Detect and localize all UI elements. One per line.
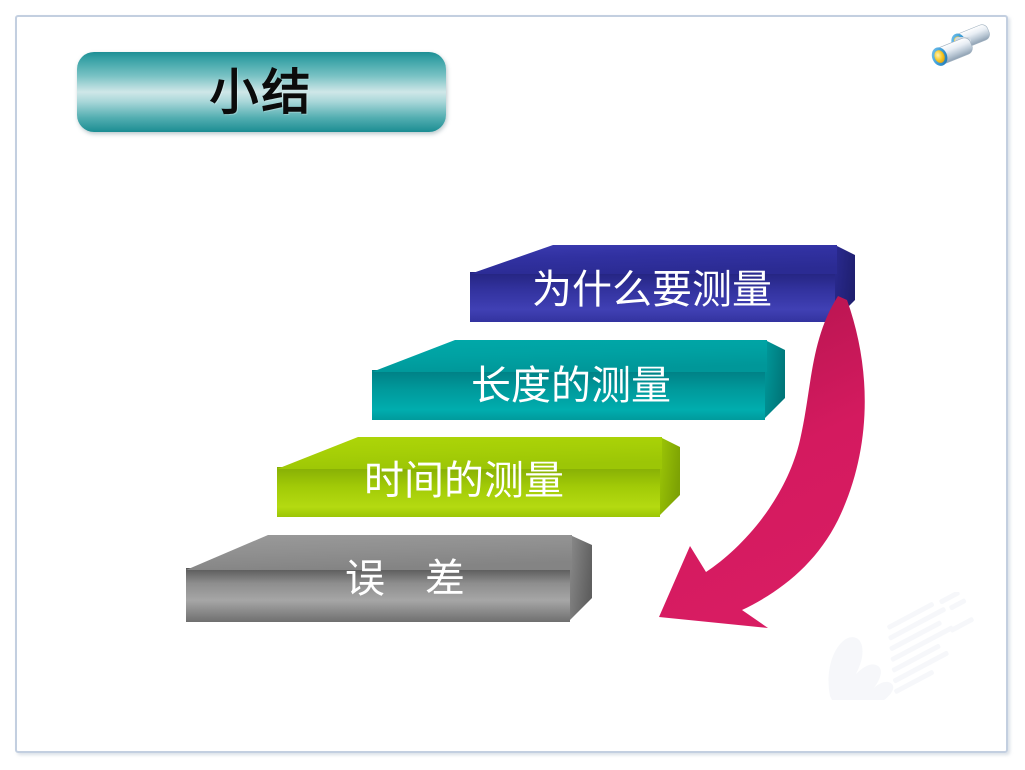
step-label-why-measure: 为什么要测量 (532, 267, 772, 312)
step-block-side-face (765, 340, 785, 418)
step-block-time-measure[interactable]: 时间的测量 (277, 437, 680, 517)
step-block-side-face (570, 535, 592, 620)
step-block-why-measure[interactable]: 为什么要测量 (470, 245, 855, 322)
staircase-diagram: 为什么要测量 长度的测量 时间的测量 误 差 (0, 0, 1025, 770)
slide-canvas: 小结 (0, 0, 1025, 770)
binoculars-icon[interactable] (925, 20, 1003, 72)
step-label-error: 误 差 (345, 556, 465, 601)
step-label-length-measure: 长度的测量 (471, 363, 671, 408)
step-block-side-face (660, 437, 680, 515)
step-block-error[interactable]: 误 差 (186, 535, 592, 622)
step-label-time-measure: 时间的测量 (364, 458, 564, 503)
step-block-length-measure[interactable]: 长度的测量 (372, 340, 785, 420)
